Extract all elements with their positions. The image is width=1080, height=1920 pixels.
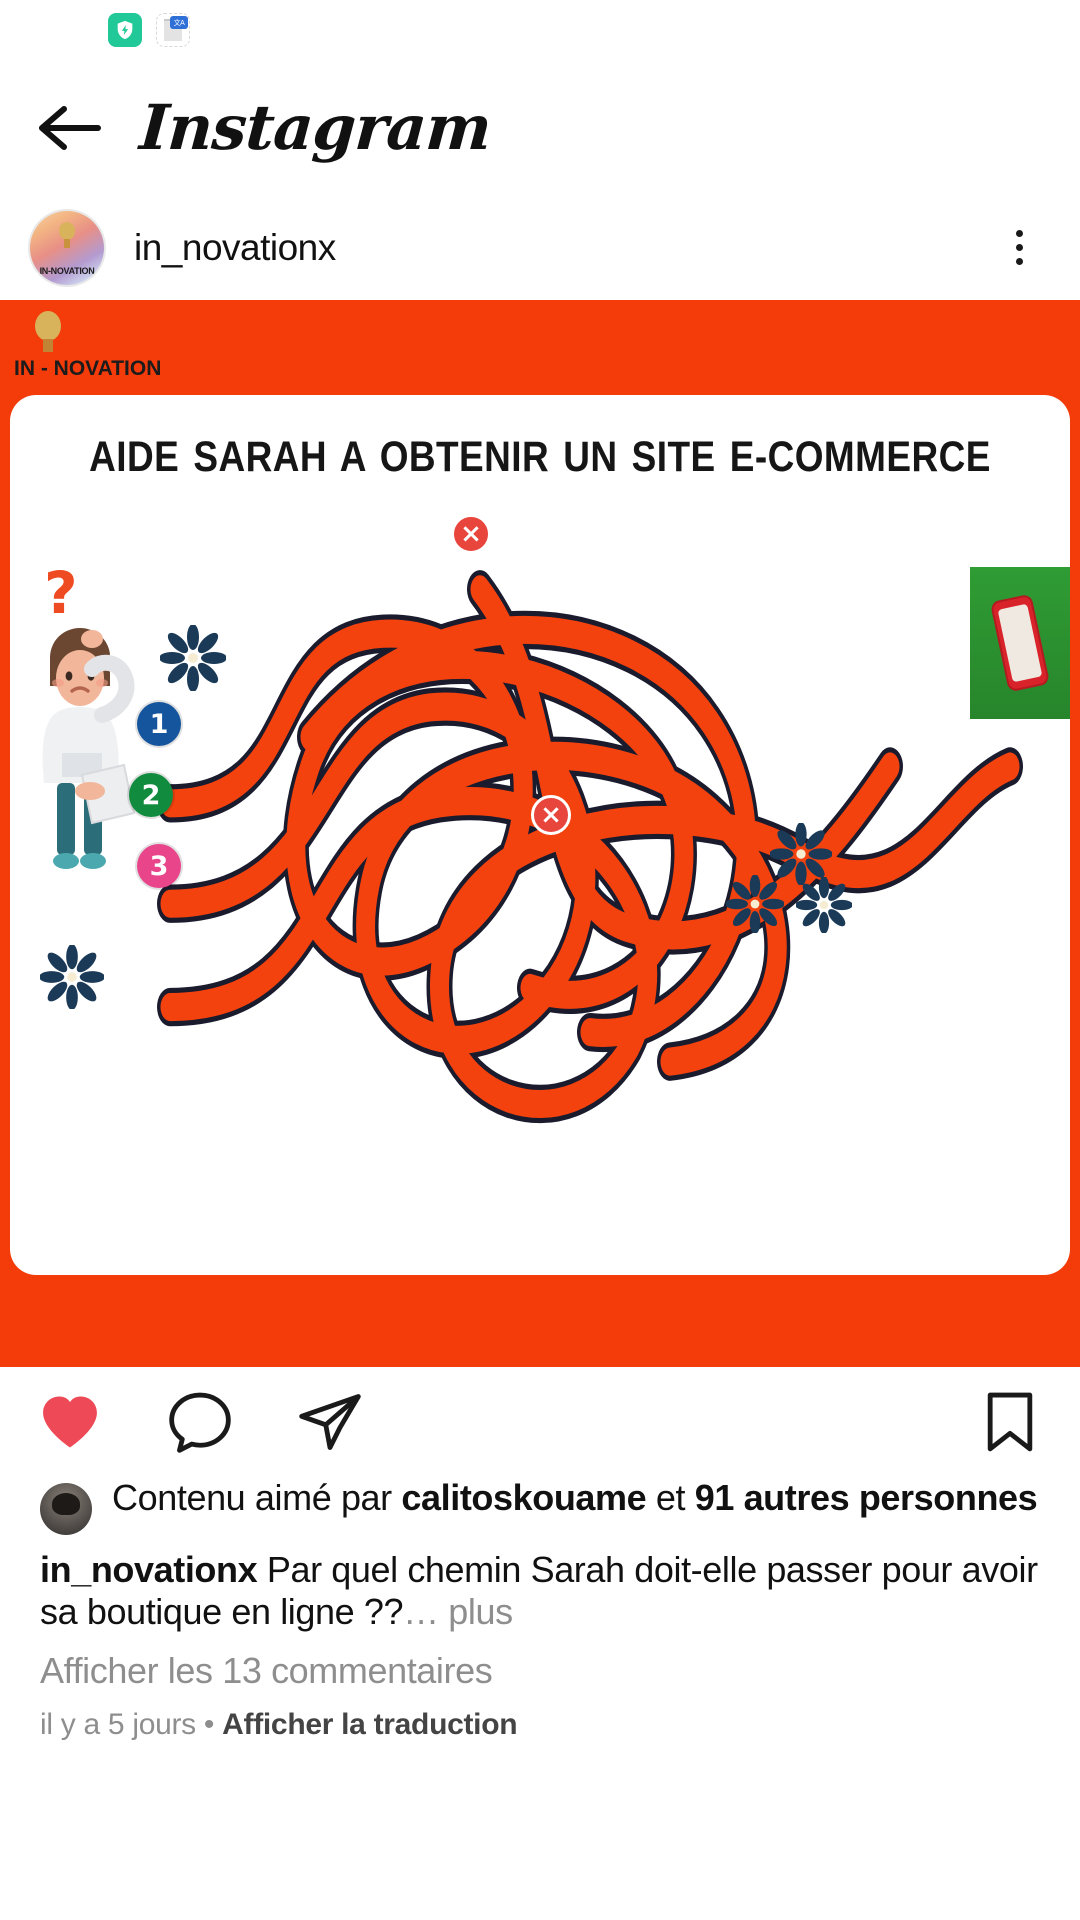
- timestamp-separator: •: [196, 1708, 222, 1741]
- post-username[interactable]: in_novationx: [134, 227, 336, 269]
- watermark-text: IN - NOVATION: [14, 357, 194, 381]
- post-media[interactable]: IN - NOVATION AIDE SARAH A OBTENIR UN SI…: [0, 300, 1080, 1367]
- media-card: AIDE SARAH A OBTENIR UN SITE E-COMMERCE …: [10, 395, 1070, 1275]
- back-arrow-icon[interactable]: [0, 105, 140, 151]
- likes-row[interactable]: Contenu aimé par calitoskouame et 91 aut…: [0, 1477, 1080, 1535]
- liker-avatar: [40, 1483, 92, 1535]
- media-watermark: IN - NOVATION: [14, 310, 194, 381]
- shield-bolt-icon: [108, 13, 142, 47]
- flower-icon: [726, 875, 784, 933]
- document-translate-icon: 文A: [156, 13, 190, 47]
- maze-illustration: ?: [10, 545, 1070, 1165]
- translate-link[interactable]: Afficher la traduction: [222, 1708, 517, 1741]
- flower-icon: [40, 945, 104, 1009]
- goal-ecommerce-thumbnail: [970, 567, 1070, 719]
- bulb-logo-icon: [56, 221, 78, 251]
- translate-badge: 文A: [170, 16, 188, 29]
- avatar-brand-text: IN-NOVATION: [30, 266, 104, 276]
- post-timestamp-row: il y a 5 jours • Afficher la traduction: [0, 1692, 1080, 1742]
- post-action-bar: [0, 1367, 1080, 1477]
- bulb-watermark-icon: [30, 310, 66, 356]
- share-icon[interactable]: [294, 1386, 366, 1458]
- bookmark-icon[interactable]: [974, 1386, 1046, 1458]
- status-bar: 文A: [0, 0, 1080, 60]
- path-marker-2[interactable]: 2: [129, 773, 173, 817]
- comment-icon[interactable]: [164, 1386, 236, 1458]
- media-card-title: AIDE SARAH A OBTENIR UN SITE E-COMMERCE: [84, 433, 996, 482]
- likes-text: Contenu aimé par calitoskouame et 91 aut…: [112, 1477, 1037, 1519]
- likes-username[interactable]: calitoskouame: [401, 1477, 646, 1518]
- flower-icon: [796, 877, 852, 933]
- likes-prefix: Contenu aimé par: [112, 1477, 401, 1518]
- caption-username[interactable]: in_novationx: [40, 1549, 257, 1590]
- more-options-icon[interactable]: [990, 230, 1052, 265]
- avatar[interactable]: IN-NOVATION: [28, 209, 106, 287]
- time-ago: il y a 5 jours: [40, 1708, 196, 1741]
- heart-icon[interactable]: [34, 1386, 106, 1458]
- likes-count[interactable]: 91 autres personnes: [695, 1477, 1038, 1518]
- dead-end-marker-1: ×: [451, 514, 491, 554]
- likes-middle: et: [646, 1477, 694, 1518]
- path-marker-1[interactable]: 1: [137, 702, 181, 746]
- flower-icon: [160, 625, 226, 691]
- view-comments-link[interactable]: Afficher les 13 commentaires: [0, 1634, 1080, 1692]
- post-caption: in_novationx Par quel chemin Sarah doit-…: [0, 1535, 1080, 1634]
- top-navigation-bar: Instagram: [0, 60, 1080, 195]
- caption-more-link[interactable]: … plus: [403, 1591, 513, 1632]
- path-marker-3[interactable]: 3: [137, 844, 181, 888]
- dead-end-marker-2: ×: [531, 795, 571, 835]
- post-header: IN-NOVATION in_novationx: [0, 195, 1080, 300]
- page-title: Instagram: [137, 91, 493, 164]
